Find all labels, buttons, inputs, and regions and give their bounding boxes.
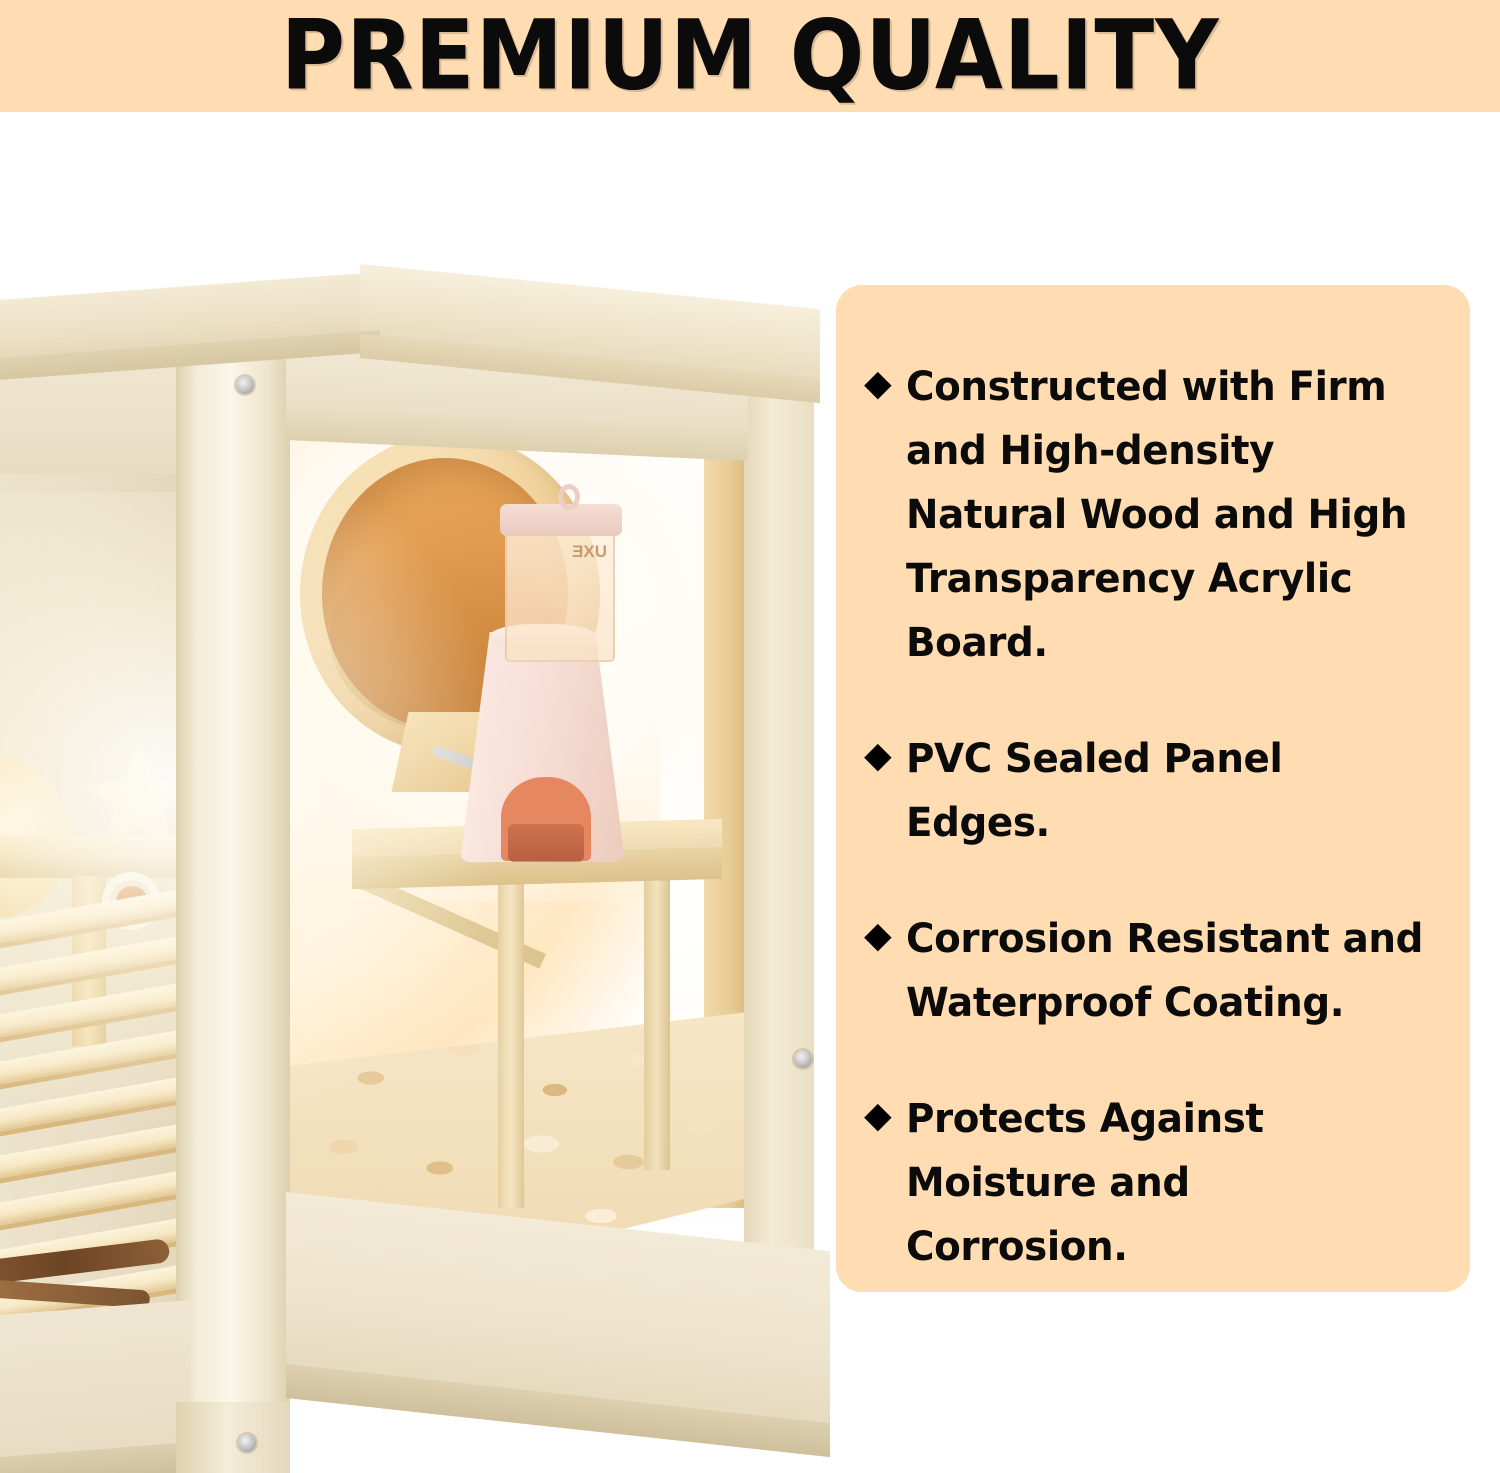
header-banner: PREMIUM QUALITY [0, 0, 1500, 112]
left-shelf-top [0, 836, 200, 862]
feature-item-2: ◆ PVC Sealed Panel Edges. [864, 727, 1440, 855]
feature-panel: ◆ Constructed with Firm and High-density… [836, 285, 1470, 1292]
diamond-bullet-icon: ◆ [864, 727, 892, 785]
screw [238, 1434, 256, 1452]
water-bottle-label: UXE [555, 542, 607, 562]
platform-leg [498, 878, 524, 1208]
feature-text-1: Constructed with Firm and High-density N… [906, 355, 1424, 675]
diamond-bullet-icon: ◆ [864, 907, 892, 965]
water-bottle-cap [500, 504, 622, 536]
feature-item-1: ◆ Constructed with Firm and High-density… [864, 355, 1440, 675]
screw [794, 1050, 812, 1068]
ceramic-hut-door-shadow [508, 824, 584, 862]
diamond-bullet-icon: ◆ [864, 355, 892, 413]
feature-text-3: Corrosion Resistant and Waterproof Coati… [906, 907, 1424, 1035]
feature-item-3: ◆ Corrosion Resistant and Waterproof Coa… [864, 907, 1440, 1035]
page-title: PREMIUM QUALITY [281, 8, 1220, 104]
diamond-bullet-icon: ◆ [864, 1087, 892, 1145]
water-bottle-hook [558, 484, 580, 510]
feature-text-2: PVC Sealed Panel Edges. [906, 727, 1424, 855]
feature-text-4: Protects Against Moisture and Corrosion. [906, 1087, 1424, 1279]
cage-front-left-post [176, 312, 290, 1473]
platform-leg [644, 870, 670, 1170]
feature-item-4: ◆ Protects Against Moisture and Corrosio… [864, 1087, 1440, 1279]
product-photo: UXE [0, 112, 830, 1473]
cage-front-left-post-foot [176, 1402, 290, 1473]
screw [236, 376, 254, 394]
